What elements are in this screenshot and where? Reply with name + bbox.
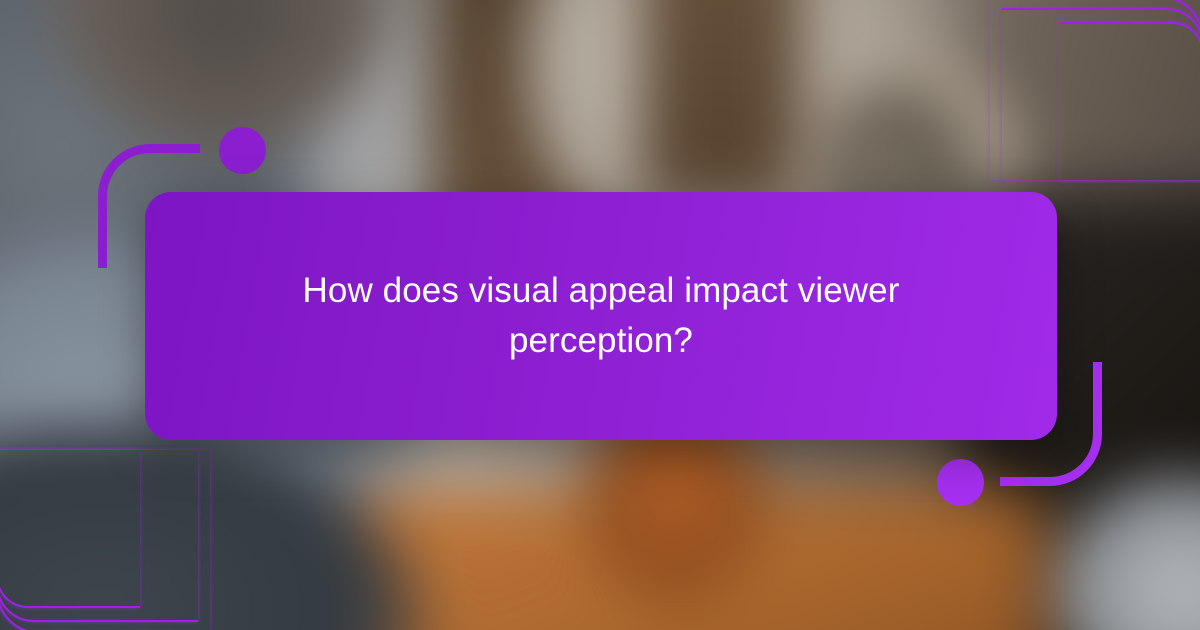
poster-canvas: How does visual appeal impact viewer per… bbox=[0, 0, 1200, 630]
bg-door-panel bbox=[642, 0, 801, 204]
accent-dot-bottom-icon bbox=[937, 459, 984, 506]
accent-dot-top-icon bbox=[219, 127, 266, 174]
question-text: How does visual appeal impact viewer per… bbox=[235, 266, 967, 365]
question-card: How does visual appeal impact viewer per… bbox=[145, 192, 1057, 440]
